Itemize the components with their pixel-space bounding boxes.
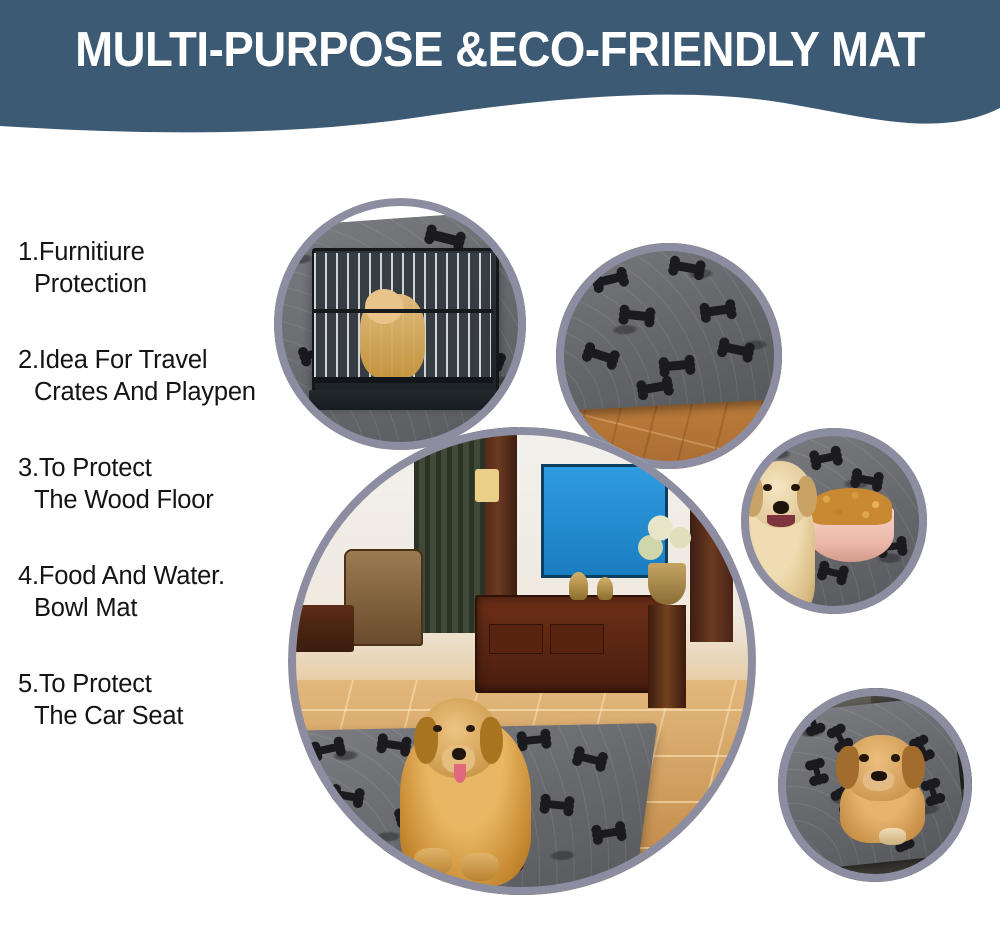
dog-with-food-bowl-photo: [741, 428, 927, 614]
dog-eye: [791, 484, 799, 491]
puppy-eye: [859, 754, 869, 762]
kibble-food: [810, 488, 892, 525]
console-drawer: [489, 624, 542, 654]
dog-in-living-room-photo: [288, 427, 756, 895]
puppy-on-car-seat-photo: [778, 688, 972, 882]
armchair: [344, 549, 423, 647]
crate-tray: [309, 390, 495, 410]
living-room-scene: [288, 427, 756, 895]
urn-vase: [648, 563, 685, 605]
flower-arrangement: [634, 502, 700, 568]
puppy-nose: [871, 771, 887, 781]
dog-in-crate-photo: [274, 198, 526, 450]
dog-paw: [461, 853, 498, 881]
dog-ear: [414, 717, 437, 764]
dog-nose: [773, 501, 790, 514]
pedestal-column: [648, 605, 685, 708]
crate-frame-rail: [312, 377, 493, 383]
product-infographic: MULTI-PURPOSE &ECO-FRIENDLY MAT 1.Furnit…: [0, 0, 1000, 946]
crate-frame-rail: [312, 309, 493, 313]
puppy-paw: [879, 828, 906, 845]
dog-tongue: [454, 764, 466, 783]
console-drawer: [550, 624, 603, 654]
photo-collage: [0, 0, 1000, 946]
brass-ornament: [597, 577, 613, 600]
coffee-table: [293, 605, 354, 652]
dog-paw: [414, 848, 451, 876]
dog-eye: [763, 484, 771, 491]
curtain: [414, 427, 484, 633]
dog-ear: [797, 476, 817, 517]
dog-head: [365, 289, 403, 324]
dog-nose: [452, 748, 466, 760]
table-lamp: [475, 469, 498, 502]
dog-mouth: [767, 515, 795, 526]
puppy-eye: [891, 754, 901, 762]
crate-scene: [274, 198, 526, 450]
dog-ear: [480, 717, 503, 764]
brass-ornament: [569, 572, 588, 600]
bone-motif: [664, 359, 691, 370]
